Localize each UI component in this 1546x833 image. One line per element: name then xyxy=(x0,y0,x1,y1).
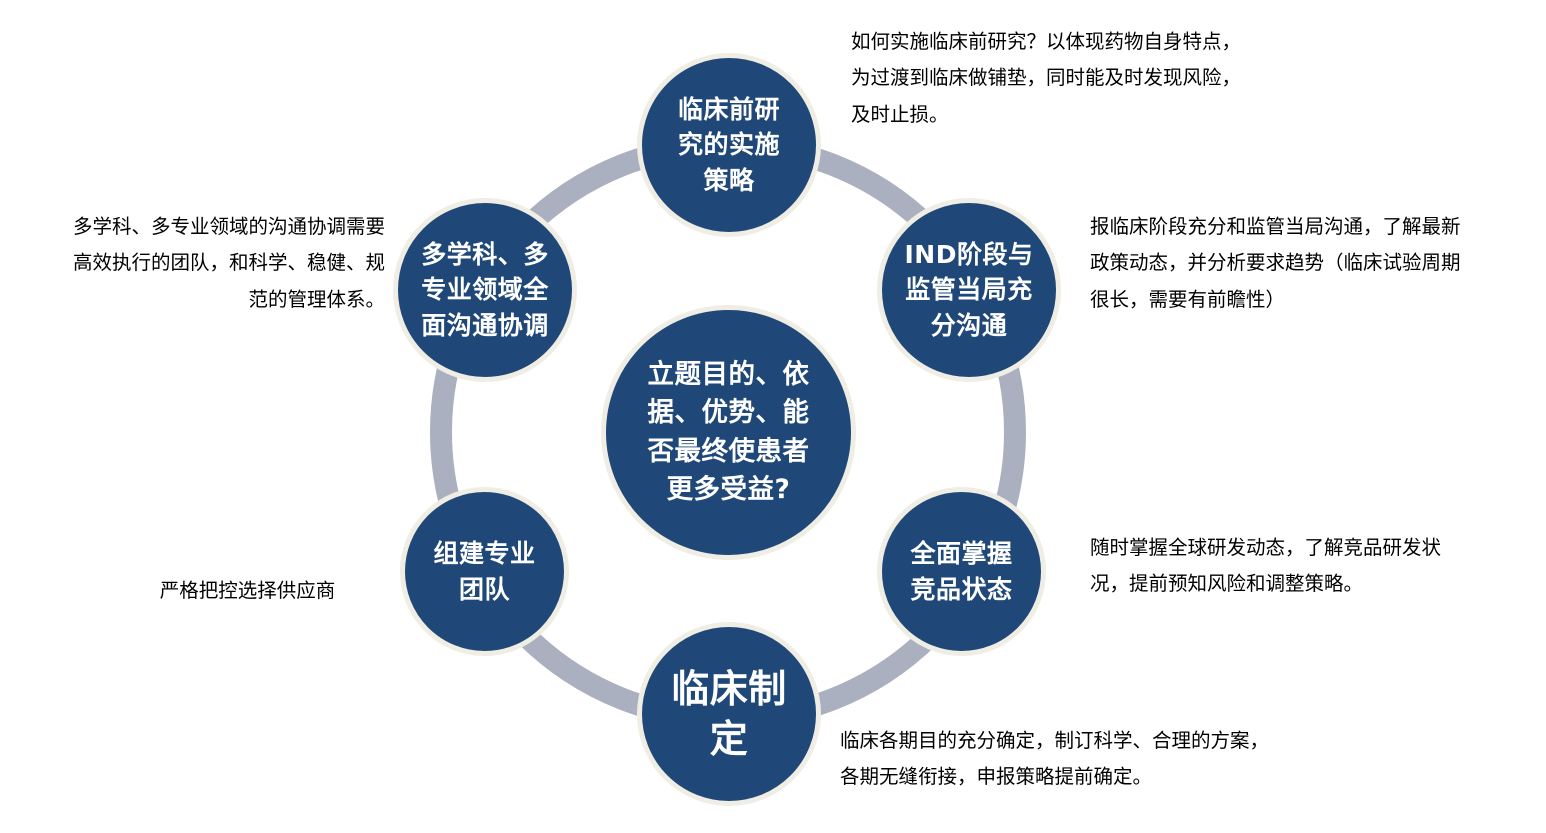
caption-build-team: 严格把控选择供应商 xyxy=(105,573,390,609)
node-preclinical-strategy-label: 临床前研 究的实施 策略 xyxy=(678,92,780,199)
diagram-canvas: 临床前研 究的实施 策略 如何实施临床前研究？以体现药物自身特点， 为过渡到临床… xyxy=(0,0,1546,833)
node-competitor-status-label: 全面掌握 竞品状态 xyxy=(910,536,1012,607)
node-clinical-plan[interactable]: 临床制 定 xyxy=(637,622,821,806)
caption-clinical-plan: 临床各期目的充分确定，制订科学、合理的方案， 各期无缝衔接，申报策略提前确定。 xyxy=(840,723,1360,796)
node-competitor-status[interactable]: 全面掌握 竞品状态 xyxy=(877,487,1046,656)
caption-competitor-status: 随时掌握全球研发动态，了解竞品研发状 况，提前预知风险和调整策略。 xyxy=(1090,530,1530,603)
node-ind-regulatory-communication[interactable]: IND阶段与 监管当局充 分沟通 xyxy=(877,198,1061,382)
caption-ind-regulatory-communication: 报临床阶段充分和监管当局沟通，了解最新 政策动态，并分析要求趋势（临床试验周期 … xyxy=(1090,209,1540,318)
node-ind-regulatory-communication-label: IND阶段与 监管当局充 分沟通 xyxy=(905,237,1034,344)
node-build-team[interactable]: 组建专业 团队 xyxy=(400,487,569,656)
node-core[interactable]: 立题目的、依 据、优势、能 否最终使患者 更多受益? xyxy=(601,305,856,560)
node-cross-discipline-communication-label: 多学科、多 专业领域全 面沟通协调 xyxy=(421,237,549,344)
caption-preclinical-strategy: 如何实施临床前研究？以体现药物自身特点， 为过渡到临床做铺垫，同时能及时发现风险… xyxy=(851,24,1321,133)
node-build-team-label: 组建专业 团队 xyxy=(433,536,535,607)
node-core-label: 立题目的、依 据、优势、能 否最终使患者 更多受益? xyxy=(648,356,810,510)
node-clinical-plan-label: 临床制 定 xyxy=(671,664,787,764)
node-preclinical-strategy[interactable]: 临床前研 究的实施 策略 xyxy=(637,53,821,237)
caption-cross-discipline-communication: 多学科、多专业领域的沟通协调需要 高效执行的团队，和科学、稳健、规 范的管理体系… xyxy=(0,209,385,318)
node-cross-discipline-communication[interactable]: 多学科、多 专业领域全 面沟通协调 xyxy=(393,198,577,382)
